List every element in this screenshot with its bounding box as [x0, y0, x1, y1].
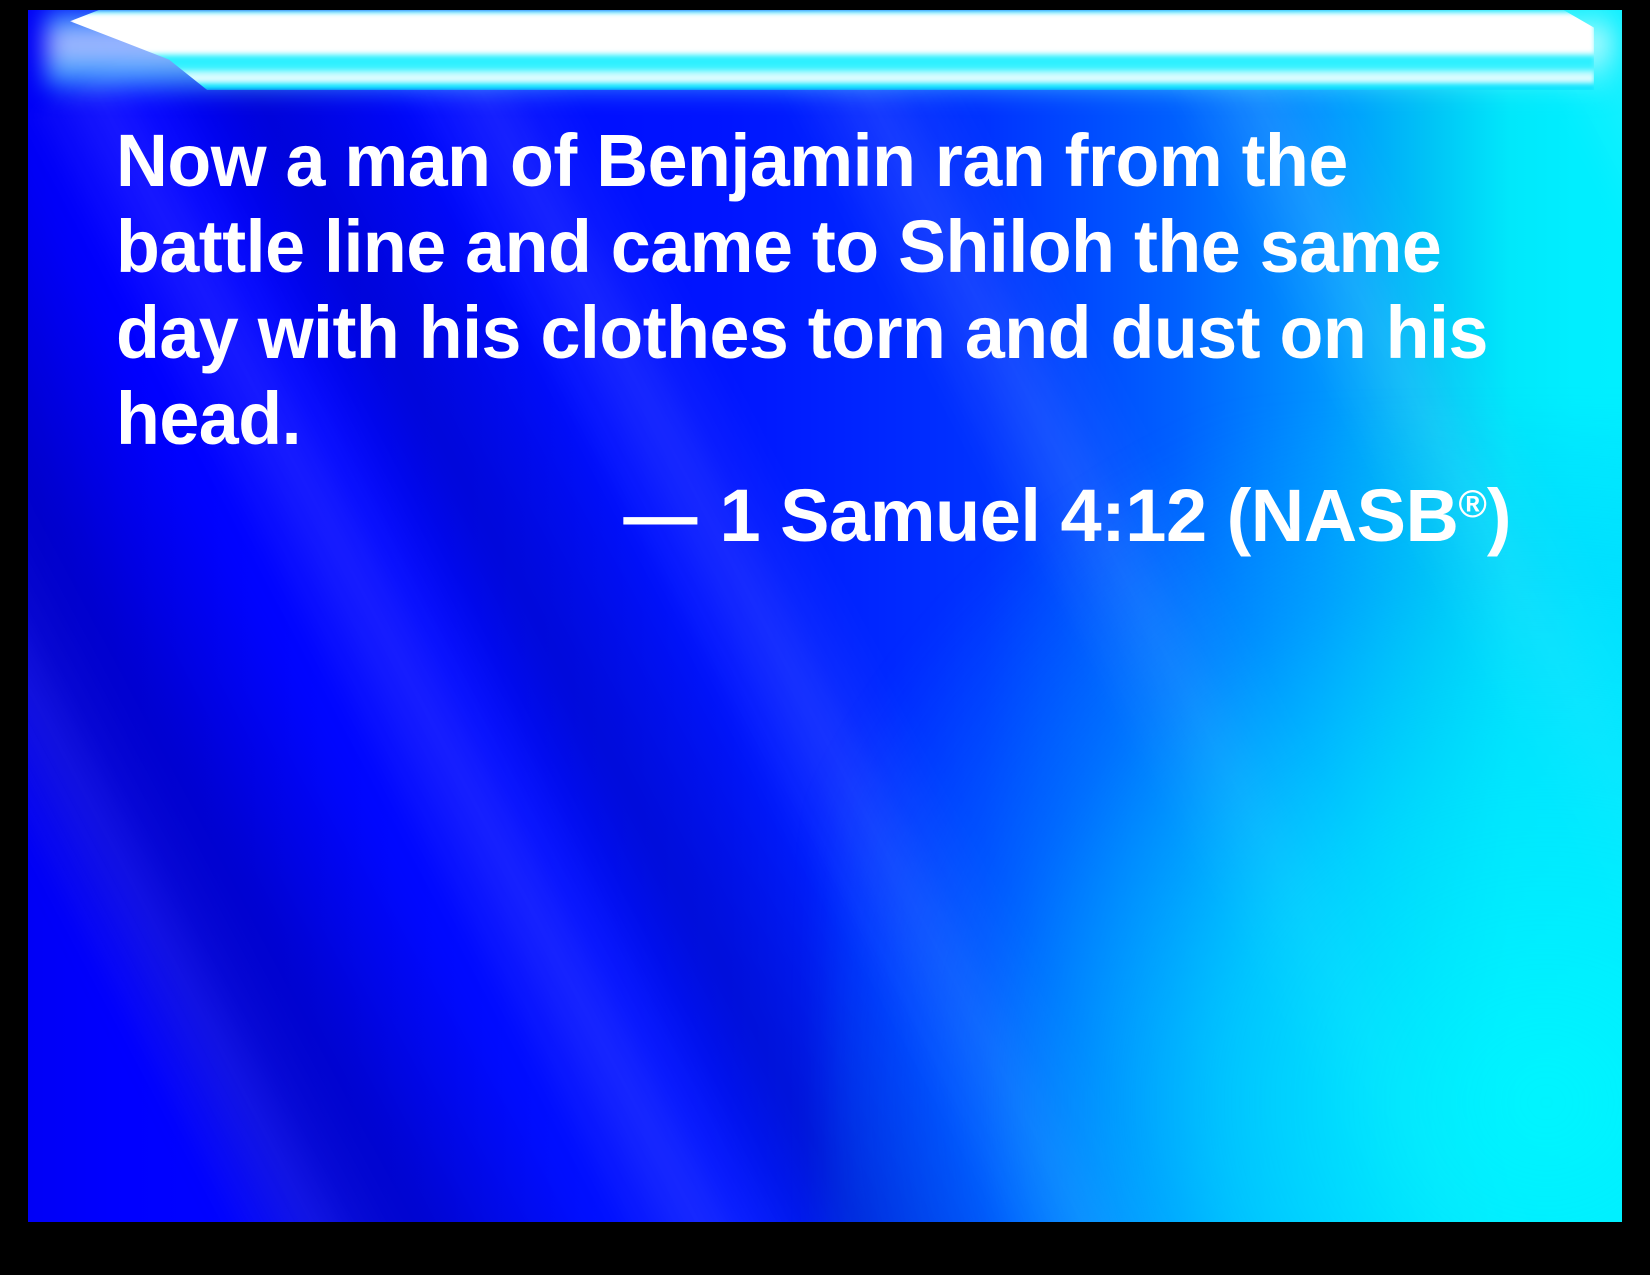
- em-dash: —: [623, 474, 699, 557]
- registered-trademark-icon: ®: [1458, 483, 1486, 526]
- attribution-spacer-3: [1207, 474, 1227, 557]
- verse-text-block: Now a man of Benjamin ran from the battl…: [116, 118, 1516, 462]
- verse-line-2: battle line and came to Shiloh the same: [116, 204, 1474, 290]
- slide-canvas: Now a man of Benjamin ran from the battl…: [28, 10, 1622, 1222]
- verse-slide: Now a man of Benjamin ran from the battl…: [0, 0, 1650, 1275]
- verse-line-4: head.: [116, 376, 1474, 462]
- attribution-book: 1 Samuel: [719, 474, 1040, 557]
- verse-line-3: day with his clothes torn and dust on hi…: [116, 290, 1474, 376]
- attribution-spacer-1: [699, 474, 719, 557]
- attribution-translation-close: ): [1487, 474, 1511, 557]
- verse-line-1: Now a man of Benjamin ran from the: [116, 118, 1474, 204]
- attribution-chapter-verse: 4:12: [1060, 474, 1206, 557]
- attribution-translation-open: (NASB: [1227, 474, 1459, 557]
- verse-attribution: — 1 Samuel 4:12 (NASB®): [116, 462, 1511, 559]
- attribution-spacer-2: [1040, 474, 1060, 557]
